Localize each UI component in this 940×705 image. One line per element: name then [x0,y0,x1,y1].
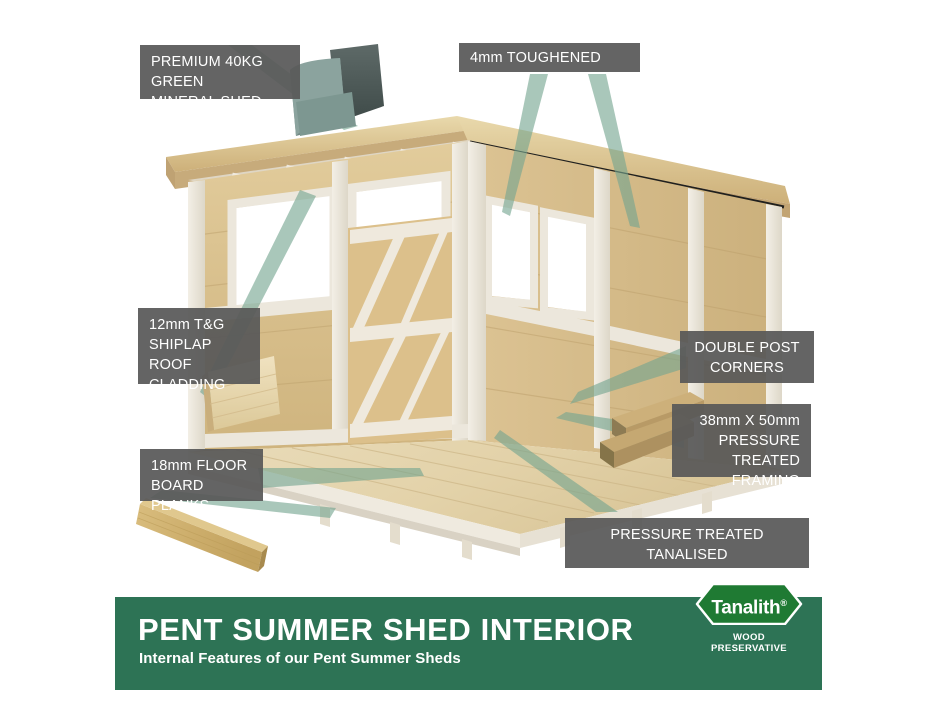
logo-name: Tanalith [711,597,780,618]
logo-wordmark: Tanalith® [695,591,803,620]
callout-tanalised-timber: PRESSURE TREATED TANALISED TIMBER MATERI… [565,518,809,568]
page-title: PENT SUMMER SHED INTERIOR [138,613,634,647]
tanalith-logo: Tanalith® WOOD PRESERVATIVE [695,583,807,645]
infographic-page: PREMIUM 40KG GREEN MINERAL SHED FELT 4mm… [0,0,940,705]
callout-double-post-corners: DOUBLE POST CORNERS [680,331,814,383]
callout-floor-boards: 18mm FLOOR BOARD PLANKS [140,449,263,501]
callout-framing: 38mm X 50mm PRESSURE TREATED FRAMING [672,404,811,477]
shed-door [348,216,452,444]
page-subtitle: Internal Features of our Pent Summer She… [139,649,461,668]
felt-roll-sample [290,44,384,136]
logo-tagline: WOOD PRESERVATIVE [695,632,803,654]
callout-toughened-glass: 4mm TOUGHENED GLASS [459,43,640,72]
callout-roof-cladding: 12mm T&G SHIPLAP ROOF CLADDING [138,308,260,384]
registered-mark: ® [780,598,786,608]
callout-roof-felt: PREMIUM 40KG GREEN MINERAL SHED FELT [140,45,300,99]
